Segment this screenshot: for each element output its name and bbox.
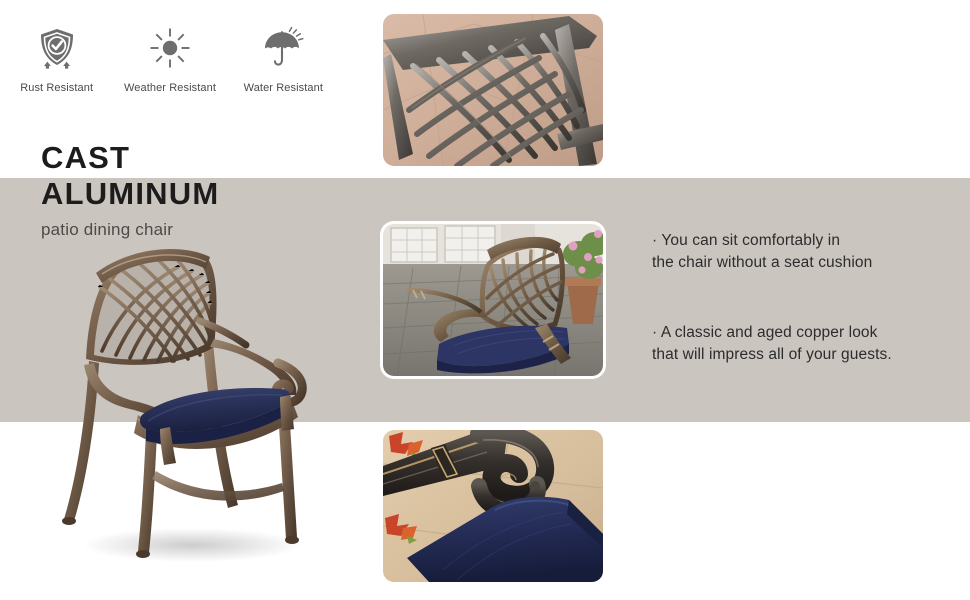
product-infographic: Rust Resistant: [0, 0, 970, 600]
photo-card-lattice-detail: [383, 14, 603, 166]
headline-line-1: CAST: [41, 140, 371, 176]
feature-badges: Rust Resistant: [0, 22, 340, 104]
comfort-bullet: · You can sit comfortably in the chair w…: [652, 230, 952, 274]
feature-label: Water Resistant: [244, 82, 323, 94]
feature-label: Rust Resistant: [20, 82, 93, 94]
shield-check-icon: [29, 22, 85, 74]
style-bullet-line-2: that will impress all of your guests.: [652, 344, 952, 366]
style-bullet-line-1: · A classic and aged copper look: [652, 322, 952, 344]
photo-card-armrest-detail: [383, 430, 603, 582]
headline-subtitle: patio dining chair: [41, 220, 371, 240]
headline-block: CAST ALUMINUM patio dining chair: [41, 140, 371, 240]
comfort-bullet-line-2: the chair without a seat cushion: [652, 252, 952, 274]
comfort-bullet-line-1: · You can sit comfortably in: [652, 230, 952, 252]
umbrella-rain-icon: [255, 22, 311, 74]
sun-icon: [142, 22, 198, 74]
hero-chair-image: [42, 243, 332, 573]
style-bullet: · A classic and aged copper look that wi…: [652, 322, 952, 366]
feature-rust-resistant: Rust Resistant: [0, 22, 113, 94]
feature-weather-resistant: Weather Resistant: [113, 22, 226, 94]
benefit-copy-block: · You can sit comfortably in the chair w…: [652, 230, 952, 366]
feature-water-resistant: Water Resistant: [227, 22, 340, 94]
photo-card-chair-on-patio: [383, 224, 603, 376]
headline-line-2: ALUMINUM: [41, 176, 371, 212]
feature-label: Weather Resistant: [124, 82, 216, 94]
